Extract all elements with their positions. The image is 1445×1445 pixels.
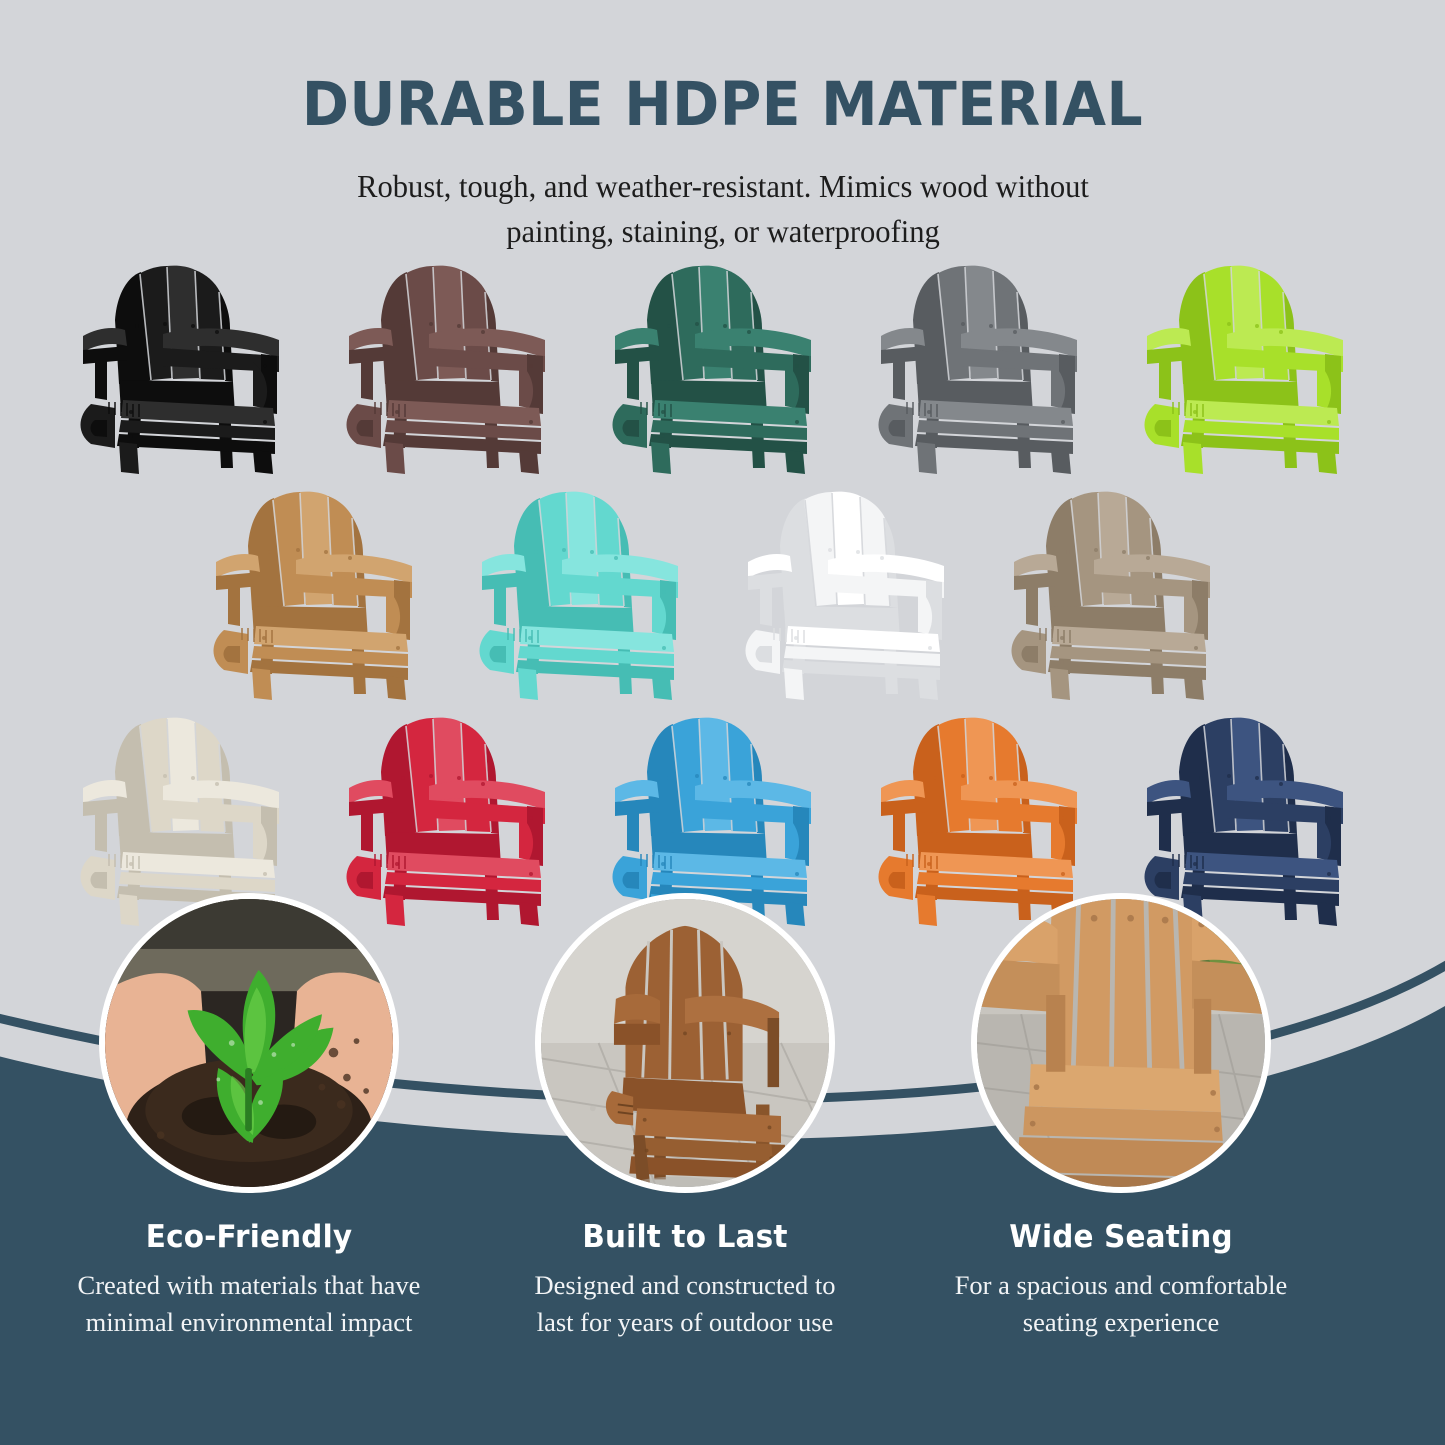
chair-swatch-taupe[interactable] <box>998 488 1246 700</box>
feature-description: Created with materials that have minimal… <box>39 1267 459 1340</box>
chair-teak-icon <box>200 488 448 700</box>
chair-black-icon <box>67 262 315 474</box>
feature-desc-line-1: For a spacious and comfortable <box>955 1270 1288 1300</box>
chair-row-1 <box>0 262 1445 474</box>
feature-title: Eco-Friendly <box>45 1219 454 1255</box>
chair-swatch-brown[interactable] <box>333 262 581 474</box>
page-subtitle: Robust, tough, and weather-resistant. Mi… <box>238 135 1208 254</box>
chair-dark-green-icon <box>599 262 847 474</box>
chair-swatch-black[interactable] <box>67 262 315 474</box>
chair-swatch-gray[interactable] <box>865 262 1113 474</box>
feature-built-to-last: Built to Last Designed and constructed t… <box>470 893 900 1340</box>
feature-desc-line-2: last for years of outdoor use <box>537 1307 834 1337</box>
seedling-in-hands-icon <box>105 899 393 1187</box>
chair-lime-green-icon <box>1131 262 1379 474</box>
header: DURABLE HDPE MATERIAL Robust, tough, and… <box>0 0 1445 254</box>
feature-title: Wide Seating <box>917 1219 1326 1255</box>
subtitle-line-2: painting, staining, or waterproofing <box>506 214 940 249</box>
infographic-page: DURABLE HDPE MATERIAL Robust, tough, and… <box>0 0 1445 1445</box>
chair-on-patio-photo-icon <box>541 899 829 1187</box>
feature-title: Built to Last <box>481 1219 890 1255</box>
chair-taupe-icon <box>998 488 1246 700</box>
feature-image-eco-friendly <box>99 893 399 1193</box>
feature-desc-line-1: Designed and constructed to <box>535 1270 836 1300</box>
chair-white-icon <box>732 488 980 700</box>
chair-row-2 <box>0 488 1445 700</box>
chair-swatch-turquoise[interactable] <box>466 488 714 700</box>
wide-seat-closeup-icon <box>977 899 1265 1187</box>
subtitle-line-1: Robust, tough, and weather-resistant. Mi… <box>357 169 1089 204</box>
feature-desc-line-2: minimal environmental impact <box>86 1307 413 1337</box>
feature-image-built-to-last <box>535 893 835 1193</box>
feature-description: For a spacious and comfortable seating e… <box>911 1267 1331 1340</box>
page-title: DURABLE HDPE MATERIAL <box>51 0 1395 135</box>
feature-desc-line-1: Created with materials that have <box>78 1270 421 1300</box>
feature-desc-line-2: seating experience <box>1023 1307 1219 1337</box>
features-section: Eco-Friendly Created with materials that… <box>0 893 1445 1445</box>
feature-wide-seating: Wide Seating For a spacious and comforta… <box>906 893 1336 1340</box>
chair-swatch-white[interactable] <box>732 488 980 700</box>
chair-swatch-lime-green[interactable] <box>1131 262 1379 474</box>
chair-swatch-teak[interactable] <box>200 488 448 700</box>
chair-swatch-dark-green[interactable] <box>599 262 847 474</box>
chair-brown-icon <box>333 262 581 474</box>
feature-eco-friendly: Eco-Friendly Created with materials that… <box>34 893 464 1340</box>
chair-gray-icon <box>865 262 1113 474</box>
chair-color-grid <box>0 262 1445 926</box>
feature-image-wide-seating <box>971 893 1271 1193</box>
feature-description: Designed and constructed to last for yea… <box>475 1267 895 1340</box>
chair-turquoise-icon <box>466 488 714 700</box>
